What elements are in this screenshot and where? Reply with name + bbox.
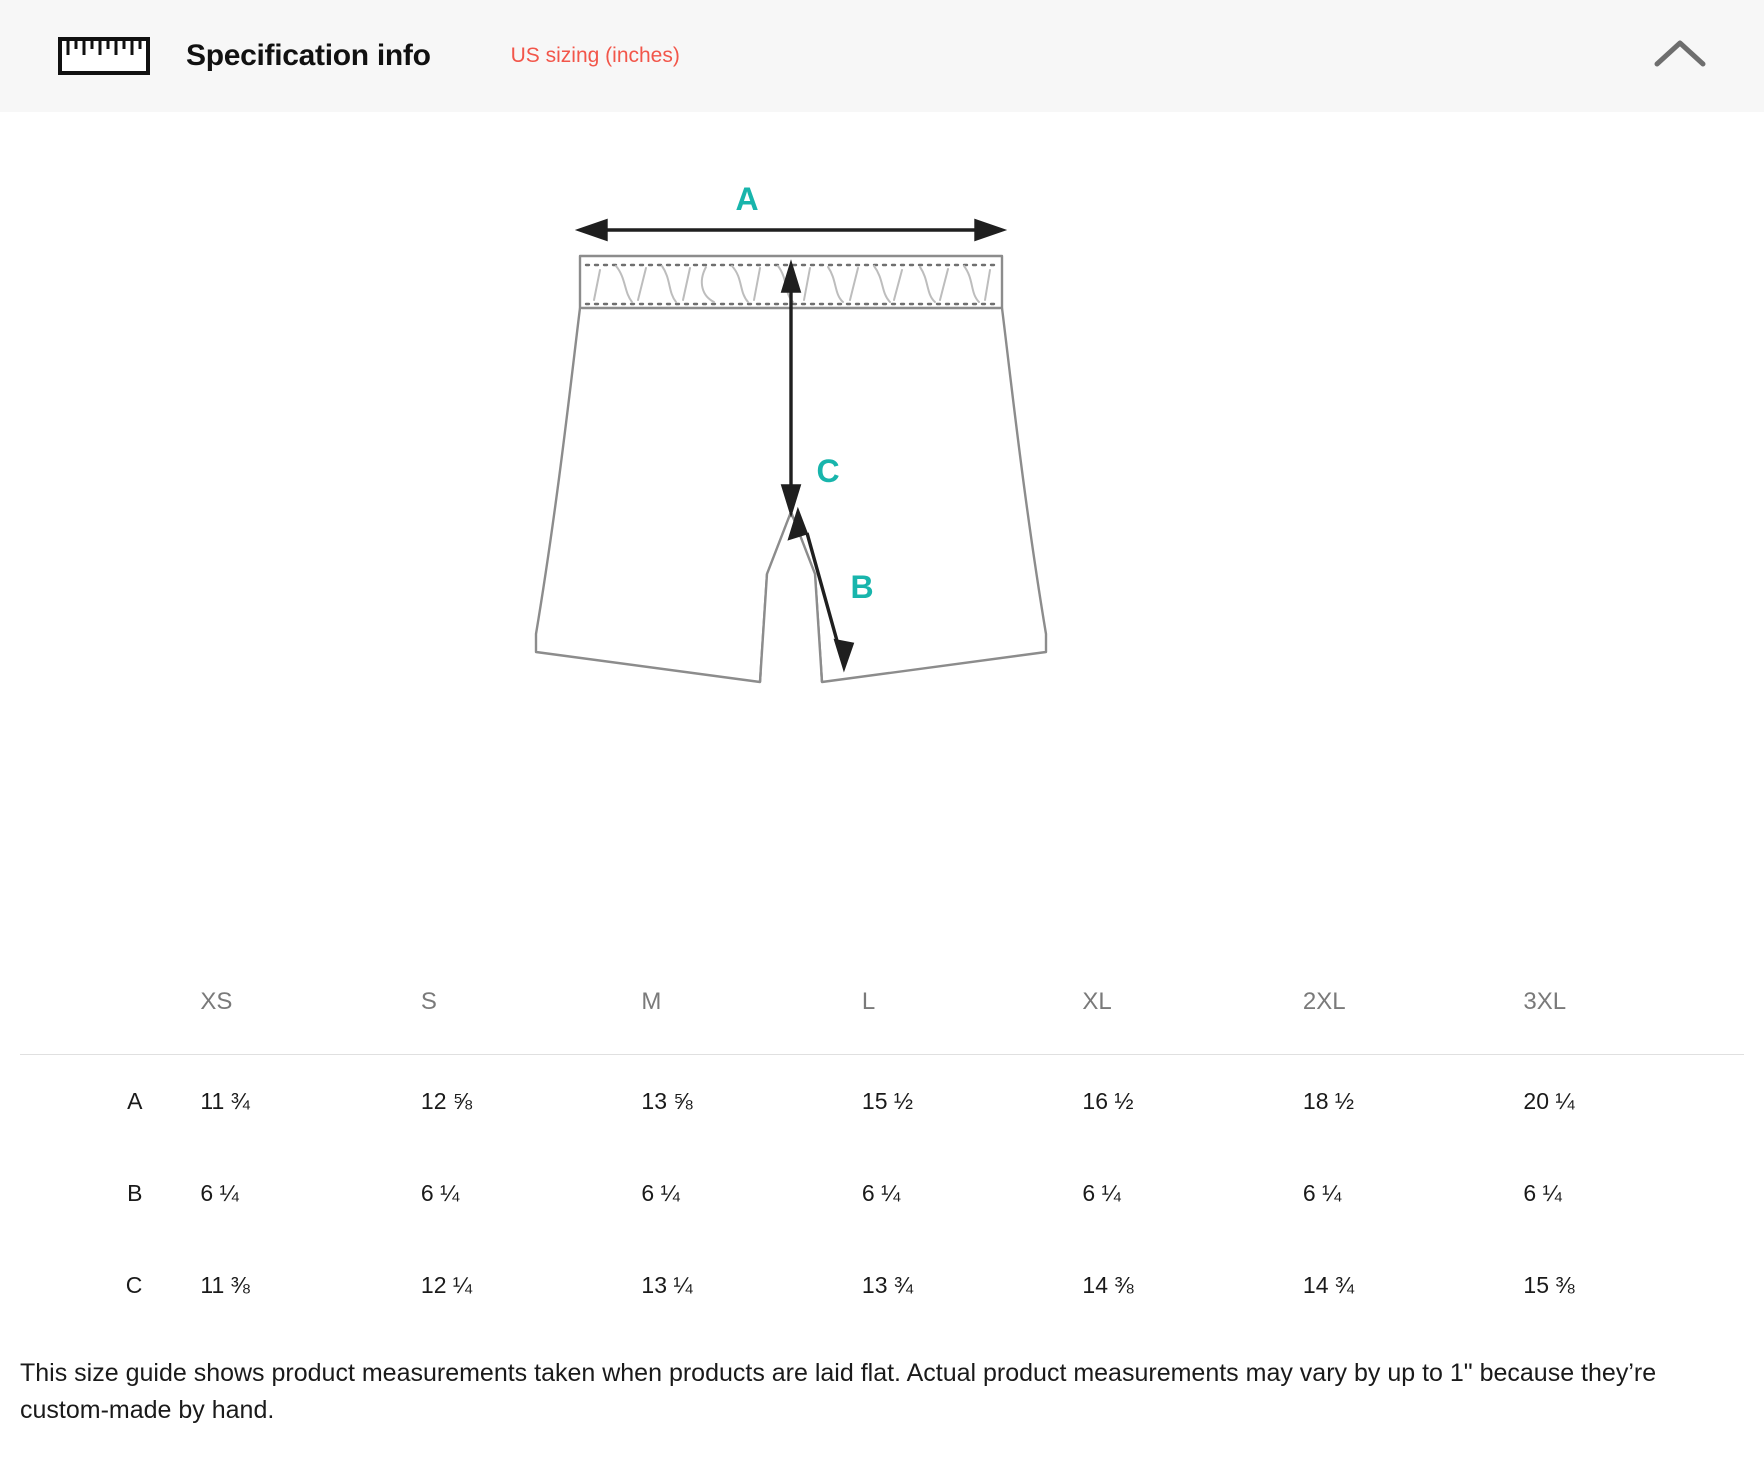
measurement-key-c: C: [20, 1239, 200, 1331]
diagram-label-a: A: [735, 182, 758, 217]
chevron-up-icon: [1652, 36, 1708, 77]
sizing-units-note: US sizing (inches): [511, 44, 680, 68]
diagram-label-c: C: [816, 453, 839, 489]
cell-b-l: 6 ¼: [862, 1147, 1083, 1239]
size-header-xl: XL: [1082, 960, 1303, 1055]
cell-c-m: 13 ¼: [641, 1239, 862, 1331]
cell-a-m: 13 ⅝: [641, 1055, 862, 1148]
collapse-section-button[interactable]: [1644, 28, 1716, 84]
size-guide-disclaimer: This size guide shows product measuremen…: [20, 1355, 1744, 1429]
specification-info-header[interactable]: Specification info US sizing (inches): [0, 0, 1764, 112]
cell-b-s: 6 ¼: [421, 1147, 642, 1239]
cell-c-xs: 11 ⅜: [200, 1239, 421, 1331]
cell-c-3xl: 15 ⅜: [1523, 1239, 1744, 1331]
ruler-icon: [58, 37, 150, 75]
cell-a-s: 12 ⅝: [421, 1055, 642, 1148]
cell-b-3xl: 6 ¼: [1523, 1147, 1744, 1239]
cell-a-3xl: 20 ¼: [1523, 1055, 1744, 1148]
cell-c-2xl: 14 ¾: [1303, 1239, 1524, 1331]
cell-b-xs: 6 ¼: [200, 1147, 421, 1239]
cell-b-xl: 6 ¼: [1082, 1147, 1303, 1239]
size-chart-diagram: A C B: [0, 112, 1764, 852]
size-measurements-table: XS S M L XL 2XL 3XL A 11 ¾ 12 ⅝ 13 ⅝ 15 …: [20, 960, 1744, 1331]
page-title: Specification info: [186, 39, 431, 73]
size-header-2xl: 2XL: [1303, 960, 1524, 1055]
table-row: A 11 ¾ 12 ⅝ 13 ⅝ 15 ½ 16 ½ 18 ½ 20 ¼: [20, 1055, 1744, 1148]
measurement-key-b: B: [20, 1147, 200, 1239]
cell-c-s: 12 ¼: [421, 1239, 642, 1331]
table-corner-cell: [20, 960, 200, 1055]
cell-a-l: 15 ½: [862, 1055, 1083, 1148]
size-header-3xl: 3XL: [1523, 960, 1744, 1055]
cell-b-m: 6 ¼: [641, 1147, 862, 1239]
measurement-key-a: A: [20, 1055, 200, 1148]
cell-a-xs: 11 ¾: [200, 1055, 421, 1148]
diagram-label-b: B: [850, 569, 873, 605]
cell-c-xl: 14 ⅜: [1082, 1239, 1303, 1331]
table-header-row: XS S M L XL 2XL 3XL: [20, 960, 1744, 1055]
cell-b-2xl: 6 ¼: [1303, 1147, 1524, 1239]
cell-a-2xl: 18 ½: [1303, 1055, 1524, 1148]
cell-a-xl: 16 ½: [1082, 1055, 1303, 1148]
size-header-m: M: [641, 960, 862, 1055]
cell-c-l: 13 ¾: [862, 1239, 1083, 1331]
table-row: B 6 ¼ 6 ¼ 6 ¼ 6 ¼ 6 ¼ 6 ¼ 6 ¼: [20, 1147, 1744, 1239]
size-header-s: S: [421, 960, 642, 1055]
shorts-technical-drawing-icon: A C B: [440, 182, 1140, 802]
size-header-l: L: [862, 960, 1083, 1055]
size-header-xs: XS: [200, 960, 421, 1055]
table-row: C 11 ⅜ 12 ¼ 13 ¼ 13 ¾ 14 ⅜ 14 ¾ 15 ⅜: [20, 1239, 1744, 1331]
